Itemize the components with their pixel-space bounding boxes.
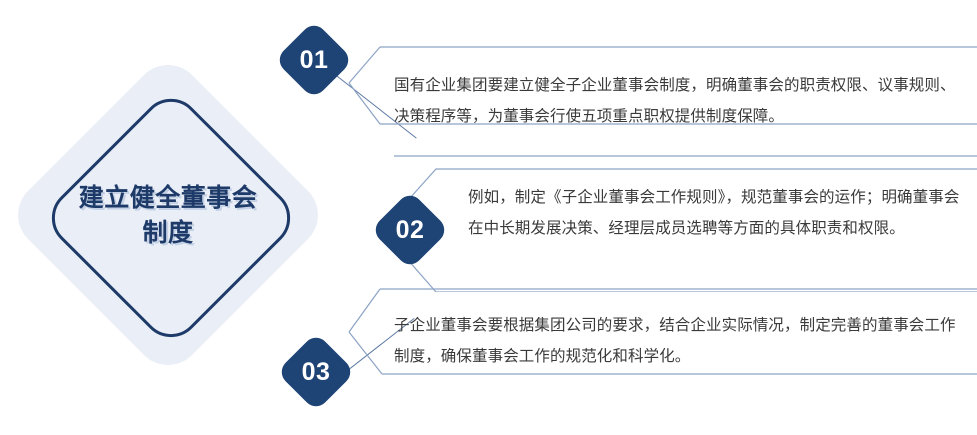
step-badge-02[interactable]: 02 (370, 190, 449, 269)
hero-title-line-2: 制度 (142, 219, 193, 247)
callout-panel-03-text: 子企业董事会要根据集团公司的要求，结合企业实际情况，制定完善的董事会工作制度，确… (394, 310, 964, 373)
infographic-canvas: 建立健全董事会制度 国有企业集团要建立健全子企业董事会制度，明确董事会的职责权限… (0, 0, 977, 435)
callout-panel-02-text: 例如，制定《子企业董事会工作规则》，规范董事会的运作；明确董事会在中长期发展决策… (468, 182, 968, 245)
step-badge-03[interactable]: 03 (276, 332, 355, 411)
callout-panel-03[interactable]: 子企业董事会要根据集团公司的要求，结合企业实际情况，制定完善的董事会工作制度，确… (348, 288, 977, 412)
hero-title: 建立健全董事会制度 (43, 181, 293, 250)
hero-title-line-1: 建立健全董事会 (79, 184, 258, 212)
step-badge-02-label: 02 (382, 202, 438, 258)
callout-panel-01-text: 国有企业集团要建立健全子企业董事会制度，明确董事会的职责权限、议事规则、决策程序… (394, 70, 964, 133)
callout-panel-01[interactable]: 国有企业集团要建立健全子企业董事会制度，明确董事会的职责权限、议事规则、决策程序… (348, 46, 977, 170)
hero-diamond: 建立健全董事会制度 (8, 30, 328, 400)
step-badge-01-label: 01 (286, 32, 342, 88)
callout-panel-02[interactable]: 例如，制定《子企业董事会工作规则》，规范董事会的运作；明确董事会在中长期发展决策… (400, 168, 977, 292)
step-badge-03-label: 03 (288, 344, 344, 400)
step-badge-01[interactable]: 01 (274, 20, 353, 99)
